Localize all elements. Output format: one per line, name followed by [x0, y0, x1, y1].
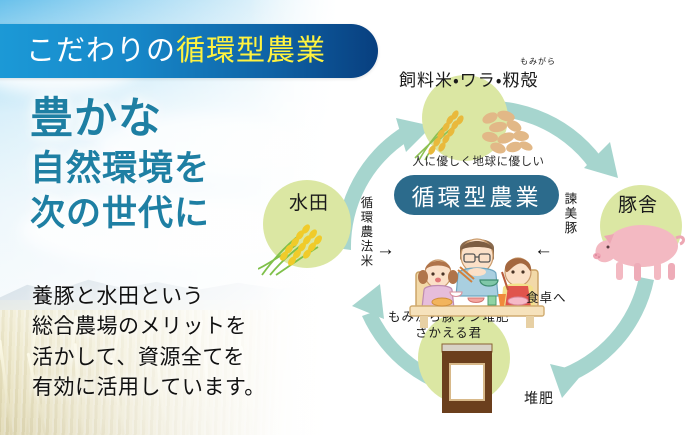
body-copy: 養豚と水田という 総合農場のメリットを 活かして、資源全てを 有効に活用していま… — [32, 281, 266, 403]
center-pill-label: 循環型農業 — [412, 178, 542, 212]
flow-label-to-table: 食卓へ — [526, 287, 567, 306]
headline-line-2: 自然環境を — [30, 147, 210, 192]
header-banner-plain-text: こだわりの — [26, 35, 176, 67]
body-copy-line-4: 有効に活用しています。 — [32, 372, 266, 402]
body-copy-line-3: 活かして、資源全てを — [32, 342, 266, 372]
body-copy-line-2: 総合農場のメリットを — [32, 311, 266, 341]
headline-line-3: 次の世代に — [30, 192, 210, 237]
compost-bag-icon — [436, 338, 498, 418]
rice-ear-paddy-icon — [258, 215, 348, 277]
center-pill-badge: 循環型農業 — [394, 175, 559, 215]
header-banner: こだわりの循環型農業 — [0, 24, 378, 78]
rice-husk-icon — [478, 108, 536, 156]
body-copy-line-1: 養豚と水田という — [32, 281, 266, 311]
center-tagline: 人に優しく地球に優しい — [396, 153, 561, 169]
node-label-paddy: 水田 — [289, 188, 329, 215]
pig-icon — [590, 220, 690, 282]
header-banner-highlight-text: 循環型農業 — [176, 35, 326, 67]
node-label-pigbarn: 豚舎 — [618, 190, 658, 217]
header-banner-text: こだわりの循環型農業 — [26, 37, 326, 66]
node-caption-compost: 堆肥 — [524, 388, 554, 408]
flow-arrow-right-icon: → — [376, 240, 395, 259]
page-title: 豊かな 自然環境を 次の世代に — [30, 92, 210, 237]
flow-arrow-left-icon: ← — [534, 240, 553, 259]
family-dining-icon — [402, 220, 552, 330]
poster-canvas: こだわりの循環型農業 豊かな 自然環境を 次の世代に 養豚と水田という 総合農場… — [0, 0, 700, 435]
node-label-feed: 飼料米・ワラ・籾殻 — [399, 66, 539, 91]
flow-label-rice-to-table: 循環農法米 — [358, 196, 372, 269]
flow-label-pork-to-table: 諫美豚 — [562, 192, 576, 236]
headline-line-1: 豊かな — [30, 92, 210, 147]
cycle-diagram: もみがら 飼料米・ワラ・籾殻 豚舎 もみがら豚プン堆肥 さか — [318, 80, 700, 435]
